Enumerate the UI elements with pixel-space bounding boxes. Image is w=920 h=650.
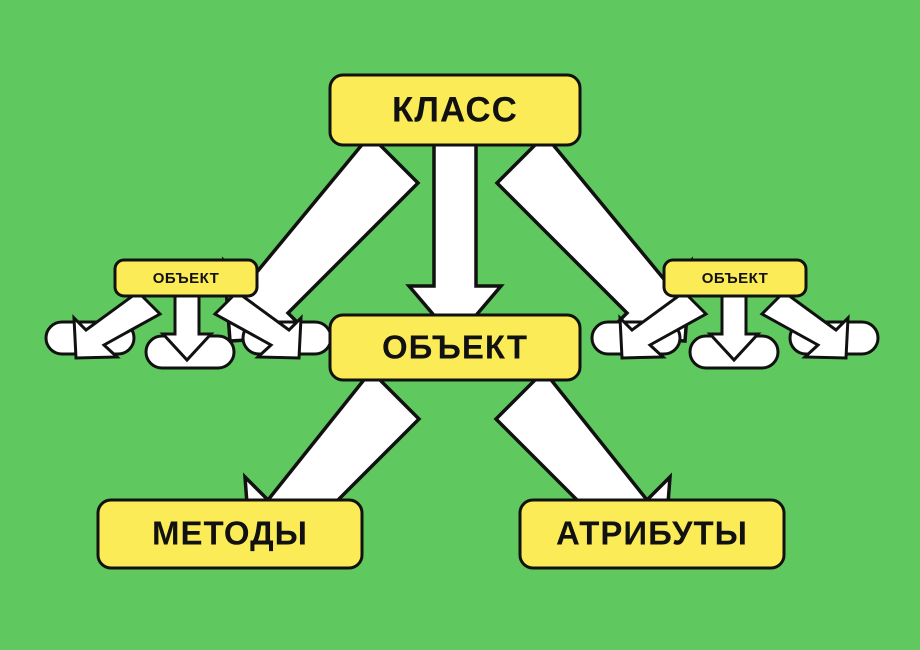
node-attributes-label: АТРИБУТЫ: [556, 515, 748, 552]
node-methods-label: МЕТОДЫ: [152, 515, 308, 552]
node-object-center-label: ОБЪЕКТ: [382, 329, 528, 366]
node-klass-label: КЛАСС: [392, 90, 518, 129]
node-object-right-label: ОБЪЕКТ: [702, 270, 769, 287]
node-object-left-label: ОБЪЕКТ: [153, 270, 220, 287]
diagram-canvas: ОБЪЕКТ ОБЪЕКТ ОБЪЕКТ КЛАСС МЕТОДЫ АТРИБУ…: [0, 0, 920, 650]
